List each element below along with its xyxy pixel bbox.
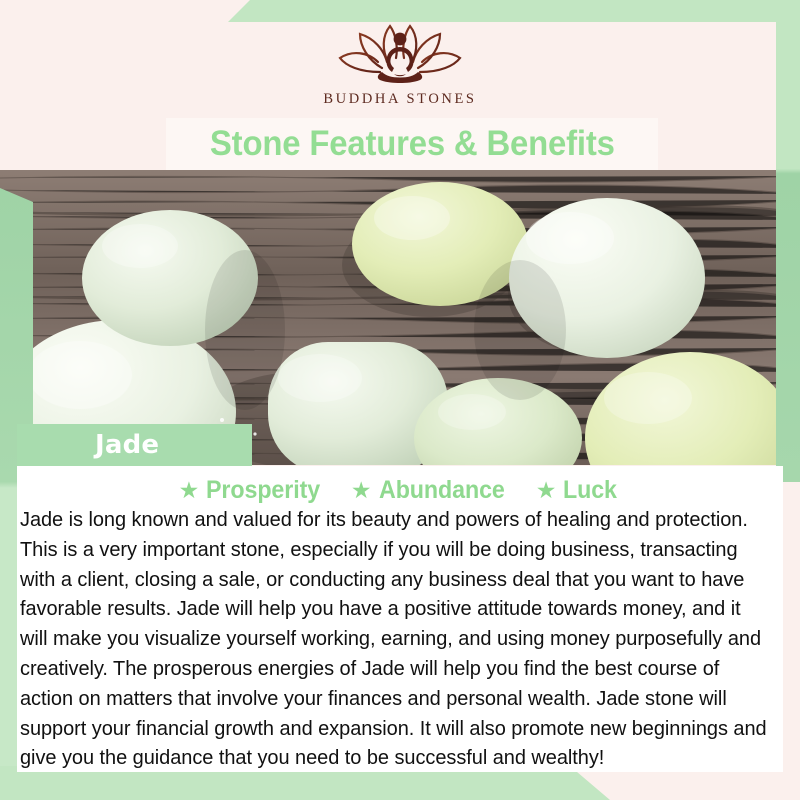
stone-name-label: Jade	[95, 430, 159, 460]
stone-photo	[0, 170, 800, 465]
brand-logo: BUDDHA STONES	[0, 20, 800, 120]
stone-info-card: BUDDHA STONES	[0, 0, 800, 800]
description-panel: ★ Prosperity ★ Abundance ★ Luck Jade is …	[17, 466, 783, 772]
stone-name-tag: Jade	[17, 424, 252, 466]
keyword-luck: ★ Luck	[536, 476, 622, 505]
star-icon: ★	[536, 479, 557, 502]
page-title-banner: Stone Features & Benefits	[166, 118, 658, 170]
keyword-abundance: ★ Abundance	[351, 476, 514, 505]
brand-name: BUDDHA STONES	[323, 91, 476, 108]
keyword-label: Luck	[563, 476, 617, 505]
star-icon: ★	[179, 479, 200, 502]
keyword-list: ★ Prosperity ★ Abundance ★ Luck	[17, 476, 783, 505]
page-title: Stone Features & Benefits	[210, 124, 615, 164]
stone-photo-illustration	[0, 170, 800, 465]
keyword-label: Abundance	[379, 476, 505, 505]
keyword-label: Prosperity	[206, 476, 320, 505]
lotus-meditation-icon	[334, 20, 466, 88]
keyword-prosperity: ★ Prosperity	[179, 476, 329, 505]
decor-top-green-band	[228, 0, 800, 22]
stone-description: Jade is long known and valued for its be…	[20, 506, 771, 774]
star-icon: ★	[351, 479, 372, 502]
